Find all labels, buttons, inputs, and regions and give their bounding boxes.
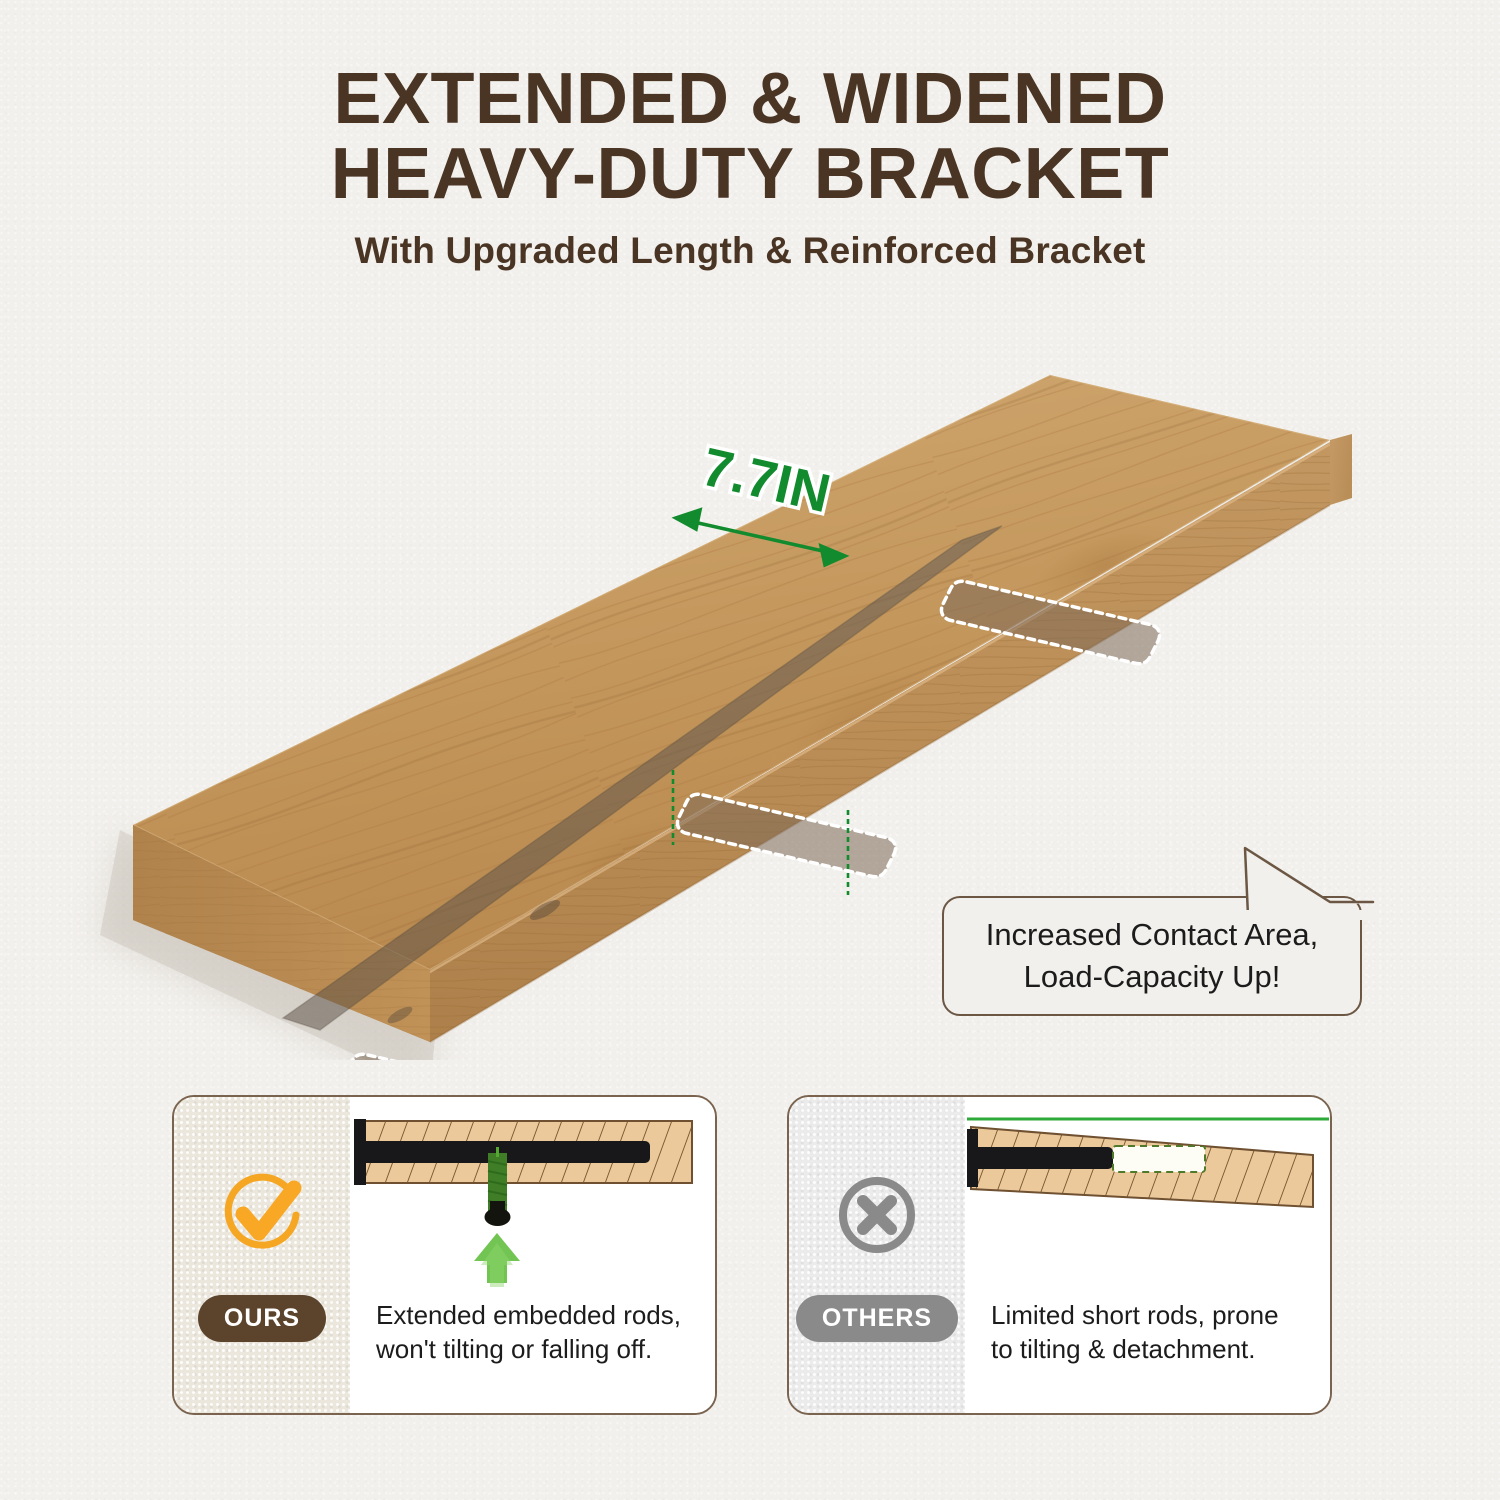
empty-cavity: [1113, 1146, 1205, 1172]
badge-ours: OURS: [198, 1295, 326, 1342]
x-circle-icon: [831, 1169, 923, 1261]
caption-ours: Extended embedded rods, won't tilting or…: [350, 1298, 716, 1367]
check-circle-icon: [216, 1169, 308, 1261]
callout-line-2: Load-Capacity Up!: [1024, 956, 1281, 998]
page-subtitle: With Upgraded Length & Reinforced Bracke…: [0, 230, 1500, 272]
card-others-left-panel: OTHERS: [789, 1097, 965, 1413]
diagram-ours: [350, 1097, 716, 1298]
comparison-card-others: OTHERS: [787, 1095, 1332, 1415]
card-ours-right-panel: Extended embedded rods, won't tilting or…: [350, 1097, 716, 1413]
title-line-1: EXTENDED & WIDENED: [0, 62, 1500, 137]
caption-others-line-2: to tilting & detachment.: [991, 1332, 1321, 1366]
embedded-rod-channel-left: [342, 1054, 560, 1060]
title-line-2: HEAVY-DUTY BRACKET: [0, 137, 1500, 212]
caption-others: Limited short rods, prone to tilting & d…: [965, 1298, 1331, 1367]
page-header: EXTENDED & WIDENED HEAVY-DUTY BRACKET Wi…: [0, 62, 1500, 272]
card-ours-left-panel: OURS: [174, 1097, 350, 1413]
caption-ours-line-1: Extended embedded rods,: [376, 1298, 706, 1332]
comparison-card-ours: OURS: [172, 1095, 717, 1415]
green-screw: [485, 1147, 511, 1226]
badge-others: OTHERS: [796, 1295, 958, 1342]
callout-line-1: Increased Contact Area,: [986, 914, 1319, 956]
shelf-right-end-face: [1330, 434, 1352, 505]
caption-ours-line-2: won't tilting or falling off.: [376, 1332, 706, 1366]
card-others-right-panel: Limited short rods, prone to tilting & d…: [965, 1097, 1331, 1413]
dimension-label: 7.7IN: [696, 437, 835, 524]
caption-others-line-1: Limited short rods, prone: [991, 1298, 1321, 1332]
callout-tail: [1195, 840, 1375, 920]
diagram-others: [965, 1097, 1331, 1298]
